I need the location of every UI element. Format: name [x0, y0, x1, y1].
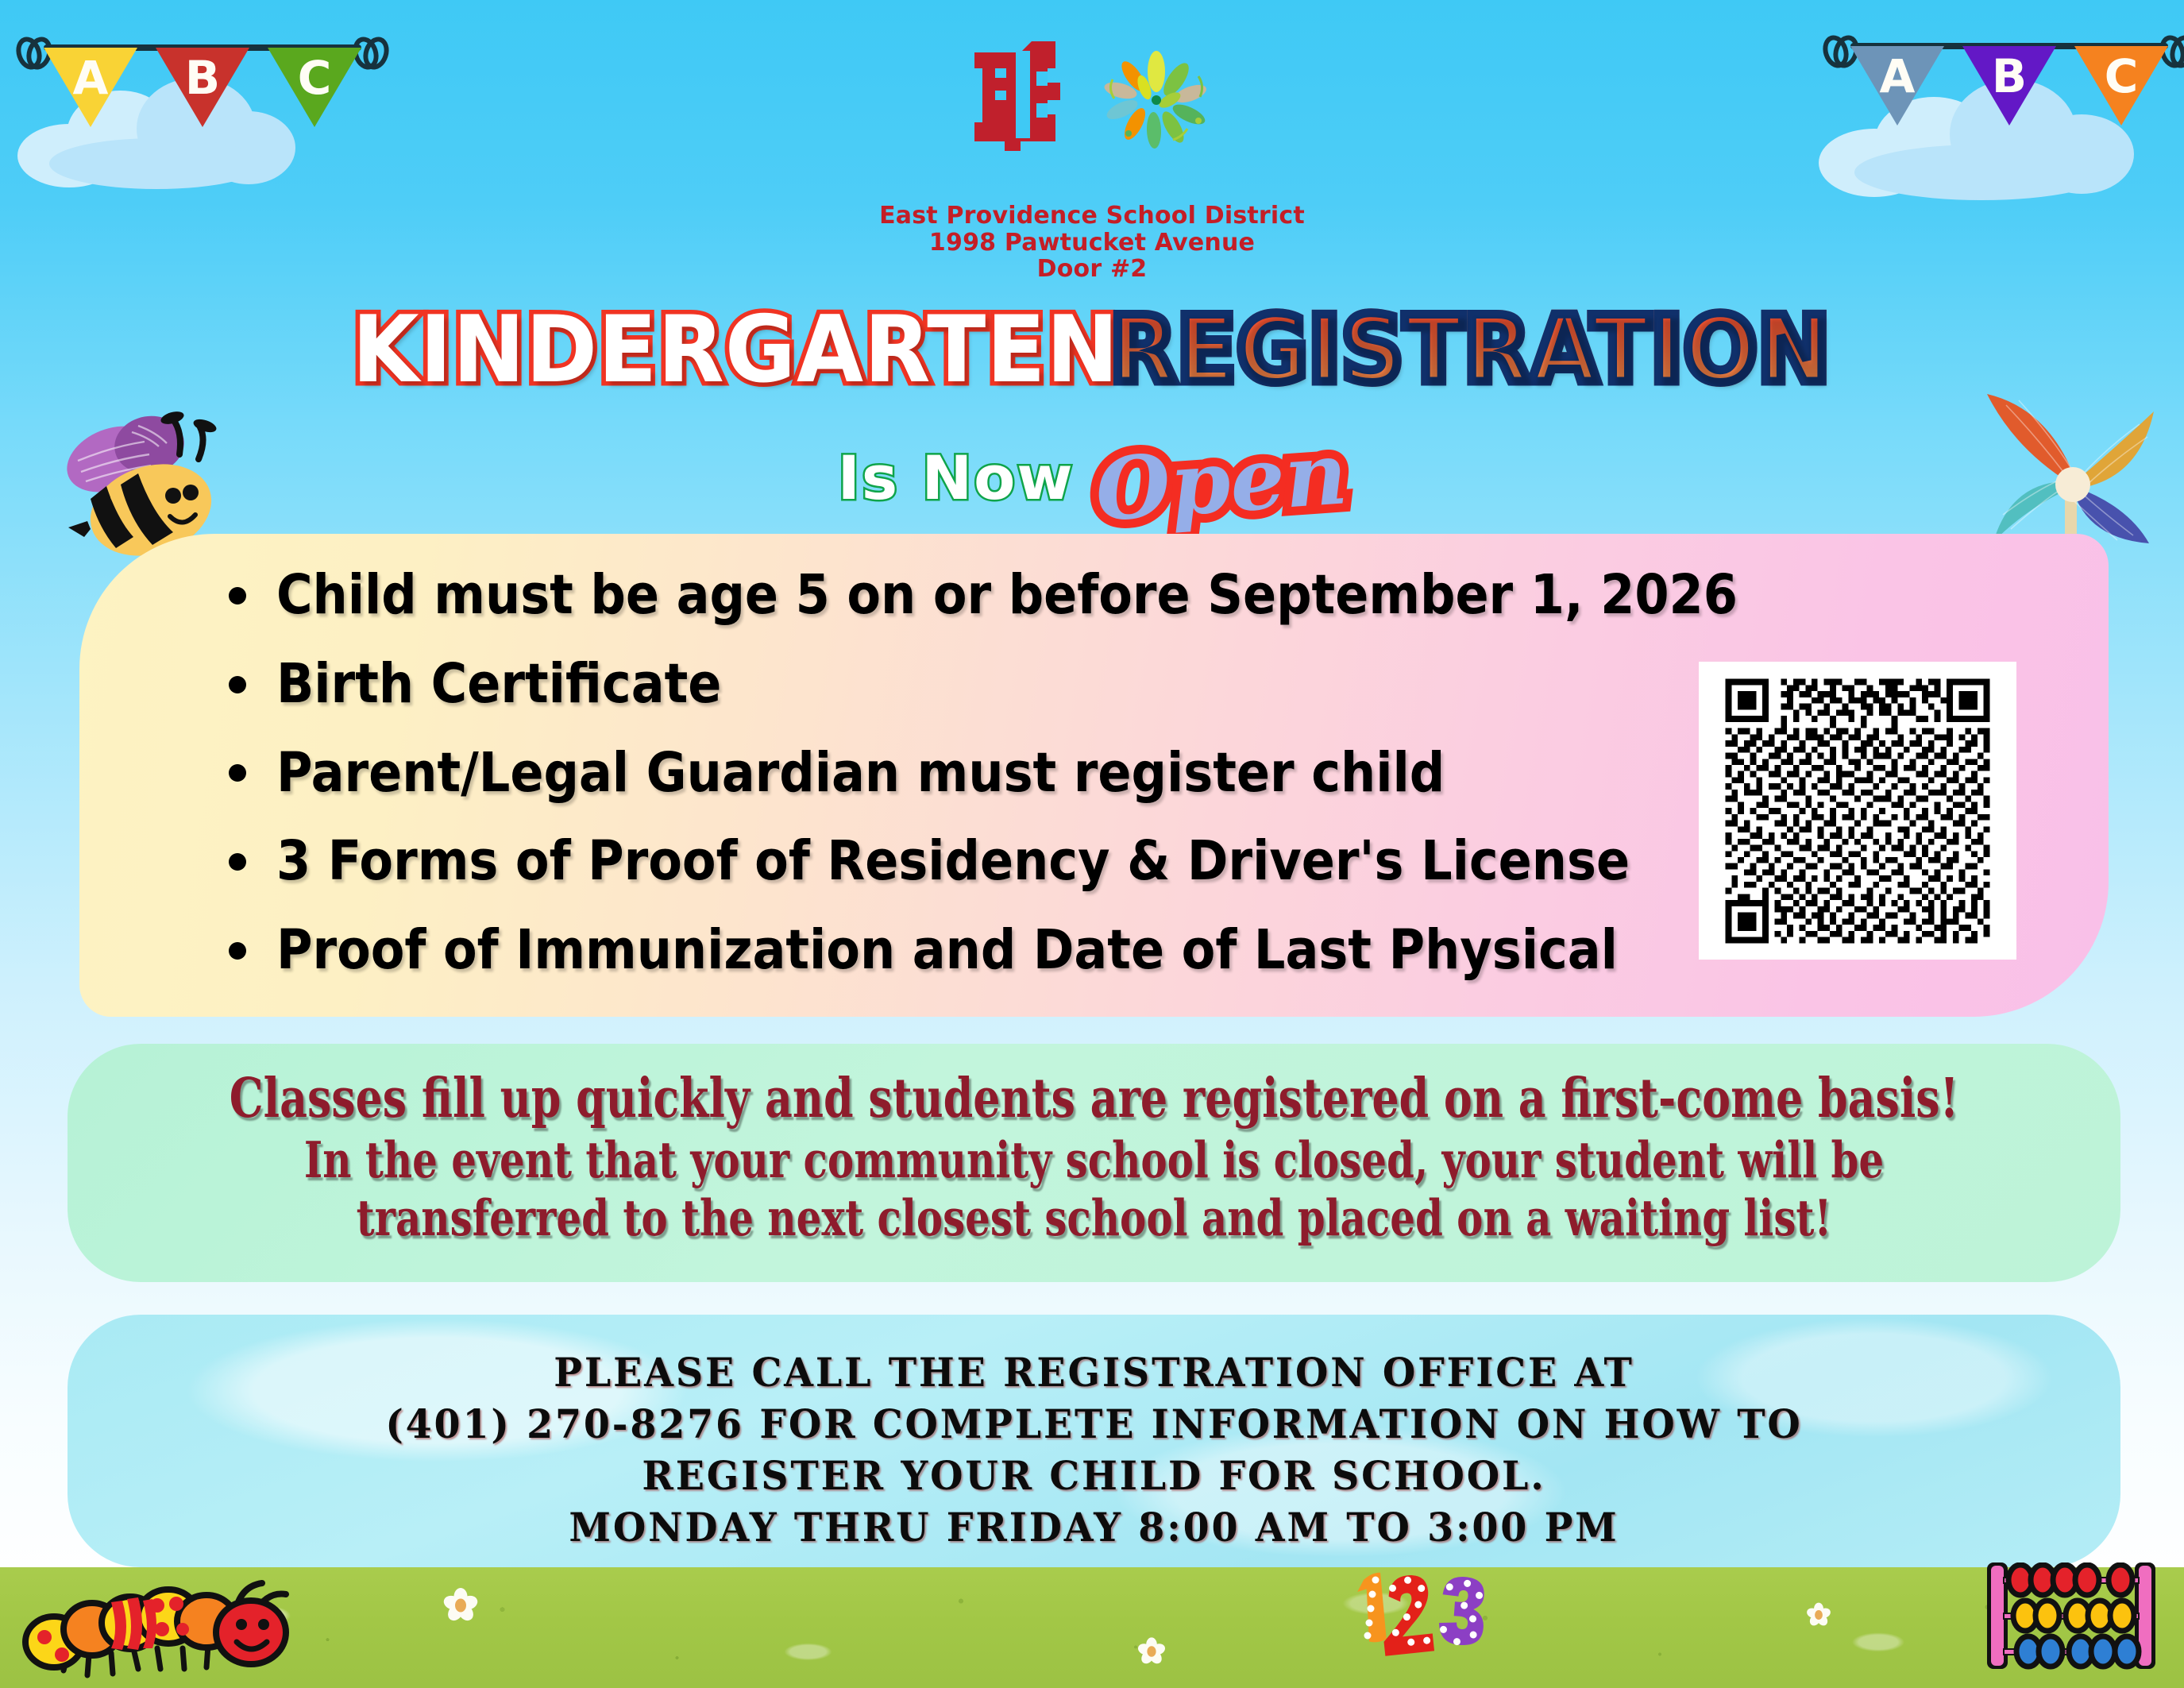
contact-card: PLEASE CALL THE REGISTRATION OFFICE AT (… — [68, 1315, 2120, 1567]
contact-line-4-hours: MONDAY THRU FRIDAY 8:00 AM TO 3:00 PM — [119, 1501, 2070, 1553]
district-name: East Providence School District — [0, 203, 2184, 230]
list-item: 3 Forms of Proof of Residency & Driver's… — [214, 817, 1866, 906]
title-registration: REGISTRATION — [1110, 304, 1831, 396]
notice-text: Classes fill up quickly and students are… — [191, 1068, 1997, 1248]
list-item: Birth Certificate — [214, 640, 1866, 729]
east-providence-ep-monogram-icon — [968, 33, 1070, 160]
daisy-icon — [1139, 1639, 1164, 1664]
district-address-block: East Providence School District 1998 Paw… — [0, 203, 2184, 283]
notice-card: Classes fill up quickly and students are… — [68, 1044, 2120, 1282]
contact-line-2-phone[interactable]: (401) 270-8276 FOR COMPLETE INFORMATION … — [119, 1398, 2070, 1450]
subtitle-open: Open — [1092, 423, 1350, 541]
subtitle-is-now: Is Now — [838, 442, 1075, 513]
requirements-list: Child must be age 5 on or before Septemb… — [214, 551, 1866, 995]
123-numbers-illustration-icon — [1347, 1567, 1498, 1678]
caterpillar-illustration-icon — [6, 1566, 340, 1688]
contact-line-1: PLEASE CALL THE REGISTRATION OFFICE AT — [119, 1346, 2070, 1398]
page-subtitle: Is NowOpen — [0, 427, 2184, 527]
contact-line-3: REGISTER YOUR CHILD FOR SCHOOL. — [119, 1450, 2070, 1501]
abacus-illustration-icon — [1979, 1562, 2178, 1674]
registration-qr-code-icon[interactable] — [1719, 673, 1996, 949]
list-item: Parent/Legal Guardian must register chil… — [214, 729, 1866, 818]
notice-line-3: transferred to the next closest school a… — [191, 1189, 1997, 1248]
notice-line-2: In the event that your community school … — [191, 1131, 1997, 1190]
list-item: Proof of Immunization and Date of Last P… — [214, 906, 1866, 995]
colorful-burst-graphic-icon — [1097, 44, 1216, 149]
kindergarten-registration-flyer: A B C A B C — [0, 0, 2184, 1688]
notice-line-1: Classes fill up quickly and students are… — [191, 1068, 1997, 1131]
logo-row — [0, 33, 2184, 160]
list-item: Child must be age 5 on or before Septemb… — [214, 551, 1866, 640]
district-door: Door #2 — [0, 256, 2184, 283]
qr-code-panel[interactable] — [1699, 662, 2016, 960]
contact-text: PLEASE CALL THE REGISTRATION OFFICE AT (… — [119, 1346, 2070, 1553]
daisy-icon — [1808, 1604, 1830, 1626]
district-street: 1998 Pawtucket Avenue — [0, 230, 2184, 257]
page-title: KINDERGARTENREGISTRATION — [0, 304, 2184, 396]
daisy-icon — [445, 1590, 477, 1621]
title-kindergarten: KINDERGARTEN — [353, 304, 1120, 396]
